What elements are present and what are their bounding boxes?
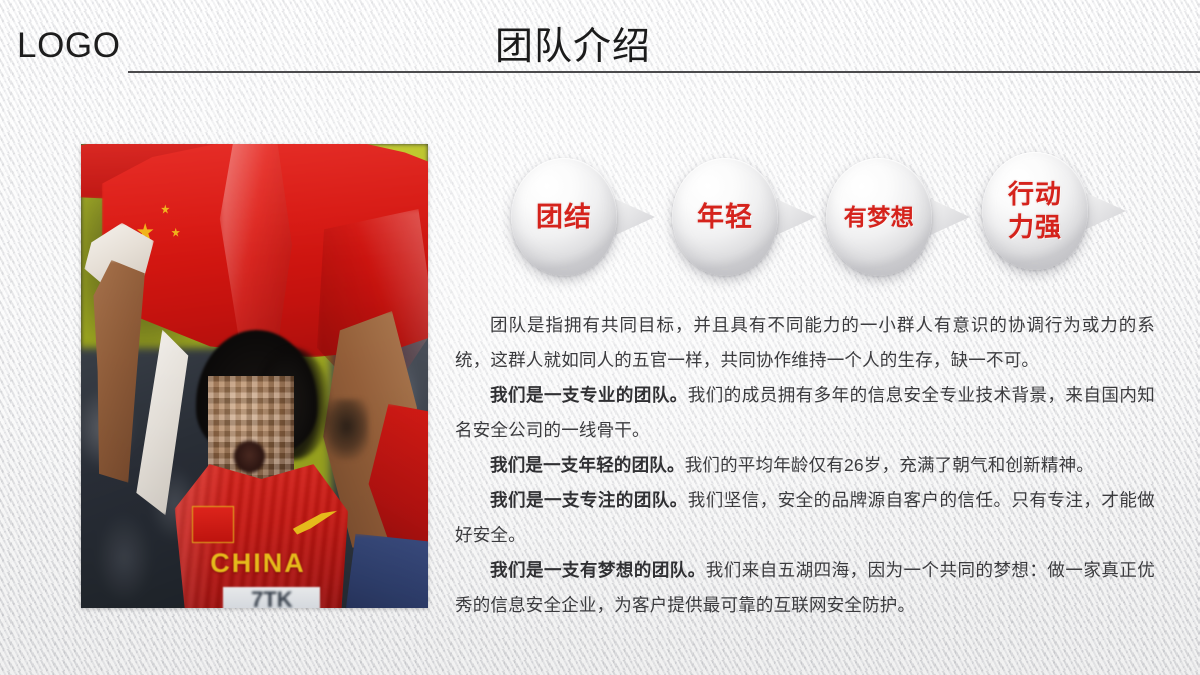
- paragraph-professional: 我们是一支专业的团队。我们的成员拥有多年的信息安全专业技术背景，来自国内知名安全…: [455, 378, 1155, 448]
- paragraph-lead: 我们是一支专业的团队。: [490, 385, 688, 405]
- paragraph-young: 我们是一支年轻的团队。我们的平均年龄仅有26岁，充满了朝气和创新精神。: [455, 448, 1155, 483]
- slide-canvas: LOGO 团队介绍: [0, 0, 1200, 675]
- bubble-label: 有梦想: [826, 158, 932, 276]
- paragraph-lead: 我们是一支年轻的团队。: [490, 455, 685, 475]
- bubble-label: 年轻: [672, 158, 778, 276]
- paragraph-text: 我们的平均年龄仅有26岁，充满了朝气和创新精神。: [685, 455, 1094, 475]
- bubble-label: 行动 力强: [982, 152, 1088, 270]
- bubble-label: 团结: [511, 158, 617, 276]
- paragraph-text: 团队是指拥有共同目标，并且具有不同能力的一小群人有意识的协调行为或力的系统，这群…: [455, 315, 1155, 370]
- paragraph-dreams: 我们是一支有梦想的团队。我们来自五湖四海，因为一个共同的梦想：做一家真正优秀的信…: [455, 553, 1155, 623]
- paragraph-lead: 我们是一支专注的团队。: [490, 490, 688, 510]
- paragraph-focused: 我们是一支专注的团队。我们坚信，安全的品牌源自客户的信任。只有专注，才能做好安全…: [455, 483, 1155, 553]
- paragraph-definition: 团队是指拥有共同目标，并且具有不同能力的一小群人有意识的协调行为或力的系统，这群…: [455, 308, 1155, 378]
- paragraph-lead: 我们是一支有梦想的团队。: [490, 560, 706, 580]
- team-description: 团队是指拥有共同目标，并且具有不同能力的一小群人有意识的协调行为或力的系统，这群…: [455, 308, 1155, 623]
